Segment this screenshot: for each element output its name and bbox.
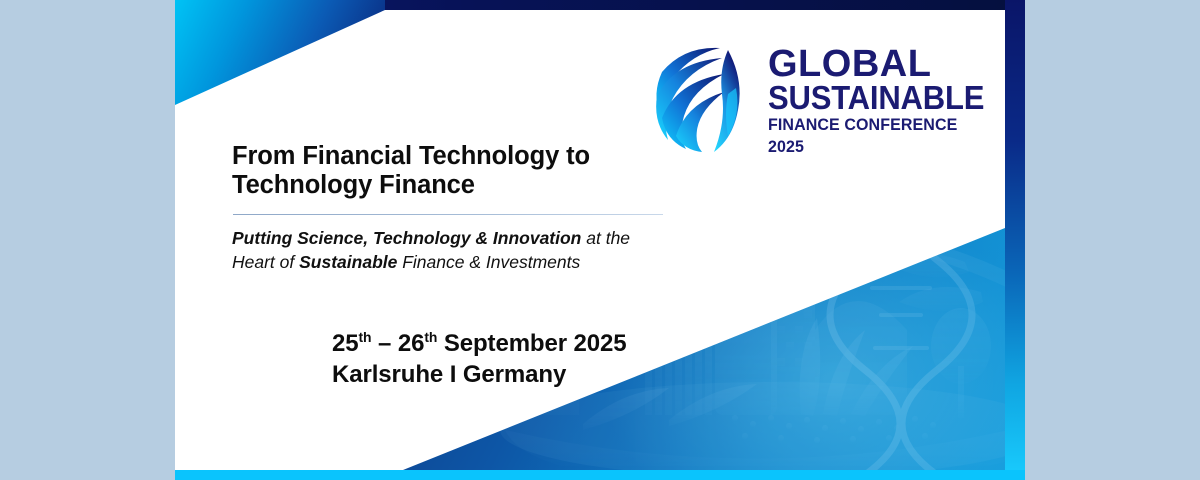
event-location: Karlsruhe I Germany [332, 359, 627, 390]
slide-title: From Financial Technology to Technology … [232, 142, 692, 200]
subtitle-part-5: Finance & Investments [397, 252, 580, 272]
slide-title-line-2: Technology Finance [232, 171, 692, 200]
slide-title-line-1: From Financial Technology to [232, 142, 692, 171]
event-date-day-end-suffix: th [424, 329, 437, 345]
subtitle-part-1: Putting Science, Technology & Innovation [232, 228, 581, 248]
logo-line-finance-conference: FINANCE CONFERENCE 2025 [768, 114, 991, 158]
event-date-month-year: September 2025 [437, 330, 626, 357]
event-date-day-start: 25 [332, 330, 359, 357]
subtitle-part-3: Heart of [232, 252, 299, 272]
logo-wordmark: GLOBAL SUSTAINABLE FINANCE CONFERENCE 20… [768, 46, 998, 158]
right-edge-gradient-bar [1005, 0, 1025, 470]
event-date-separator: – [371, 330, 397, 357]
event-date-day-end: 26 [398, 330, 425, 357]
event-details: 25th – 26th September 2025 Karlsruhe I G… [332, 328, 627, 390]
event-date: 25th – 26th September 2025 [332, 328, 627, 359]
top-left-gradient-corner [175, 0, 385, 105]
globe-leaf-icon [640, 36, 758, 154]
title-divider [233, 214, 663, 215]
logo-line-sustainable: SUSTAINABLE [768, 82, 984, 114]
logo-line-global: GLOBAL [768, 46, 998, 82]
subtitle-part-4: Sustainable [299, 252, 397, 272]
subtitle-part-2: at the [581, 228, 630, 248]
conference-logo: GLOBAL SUSTAINABLE FINANCE CONFERENCE 20… [640, 36, 970, 156]
slide-card: GLOBAL SUSTAINABLE FINANCE CONFERENCE 20… [175, 0, 1005, 470]
bottom-cyan-bar [175, 470, 1025, 480]
slide-subtitle: Putting Science, Technology & Innovation… [232, 226, 662, 274]
event-date-day-start-suffix: th [359, 329, 372, 345]
conference-slide: GLOBAL SUSTAINABLE FINANCE CONFERENCE 20… [175, 0, 1025, 480]
